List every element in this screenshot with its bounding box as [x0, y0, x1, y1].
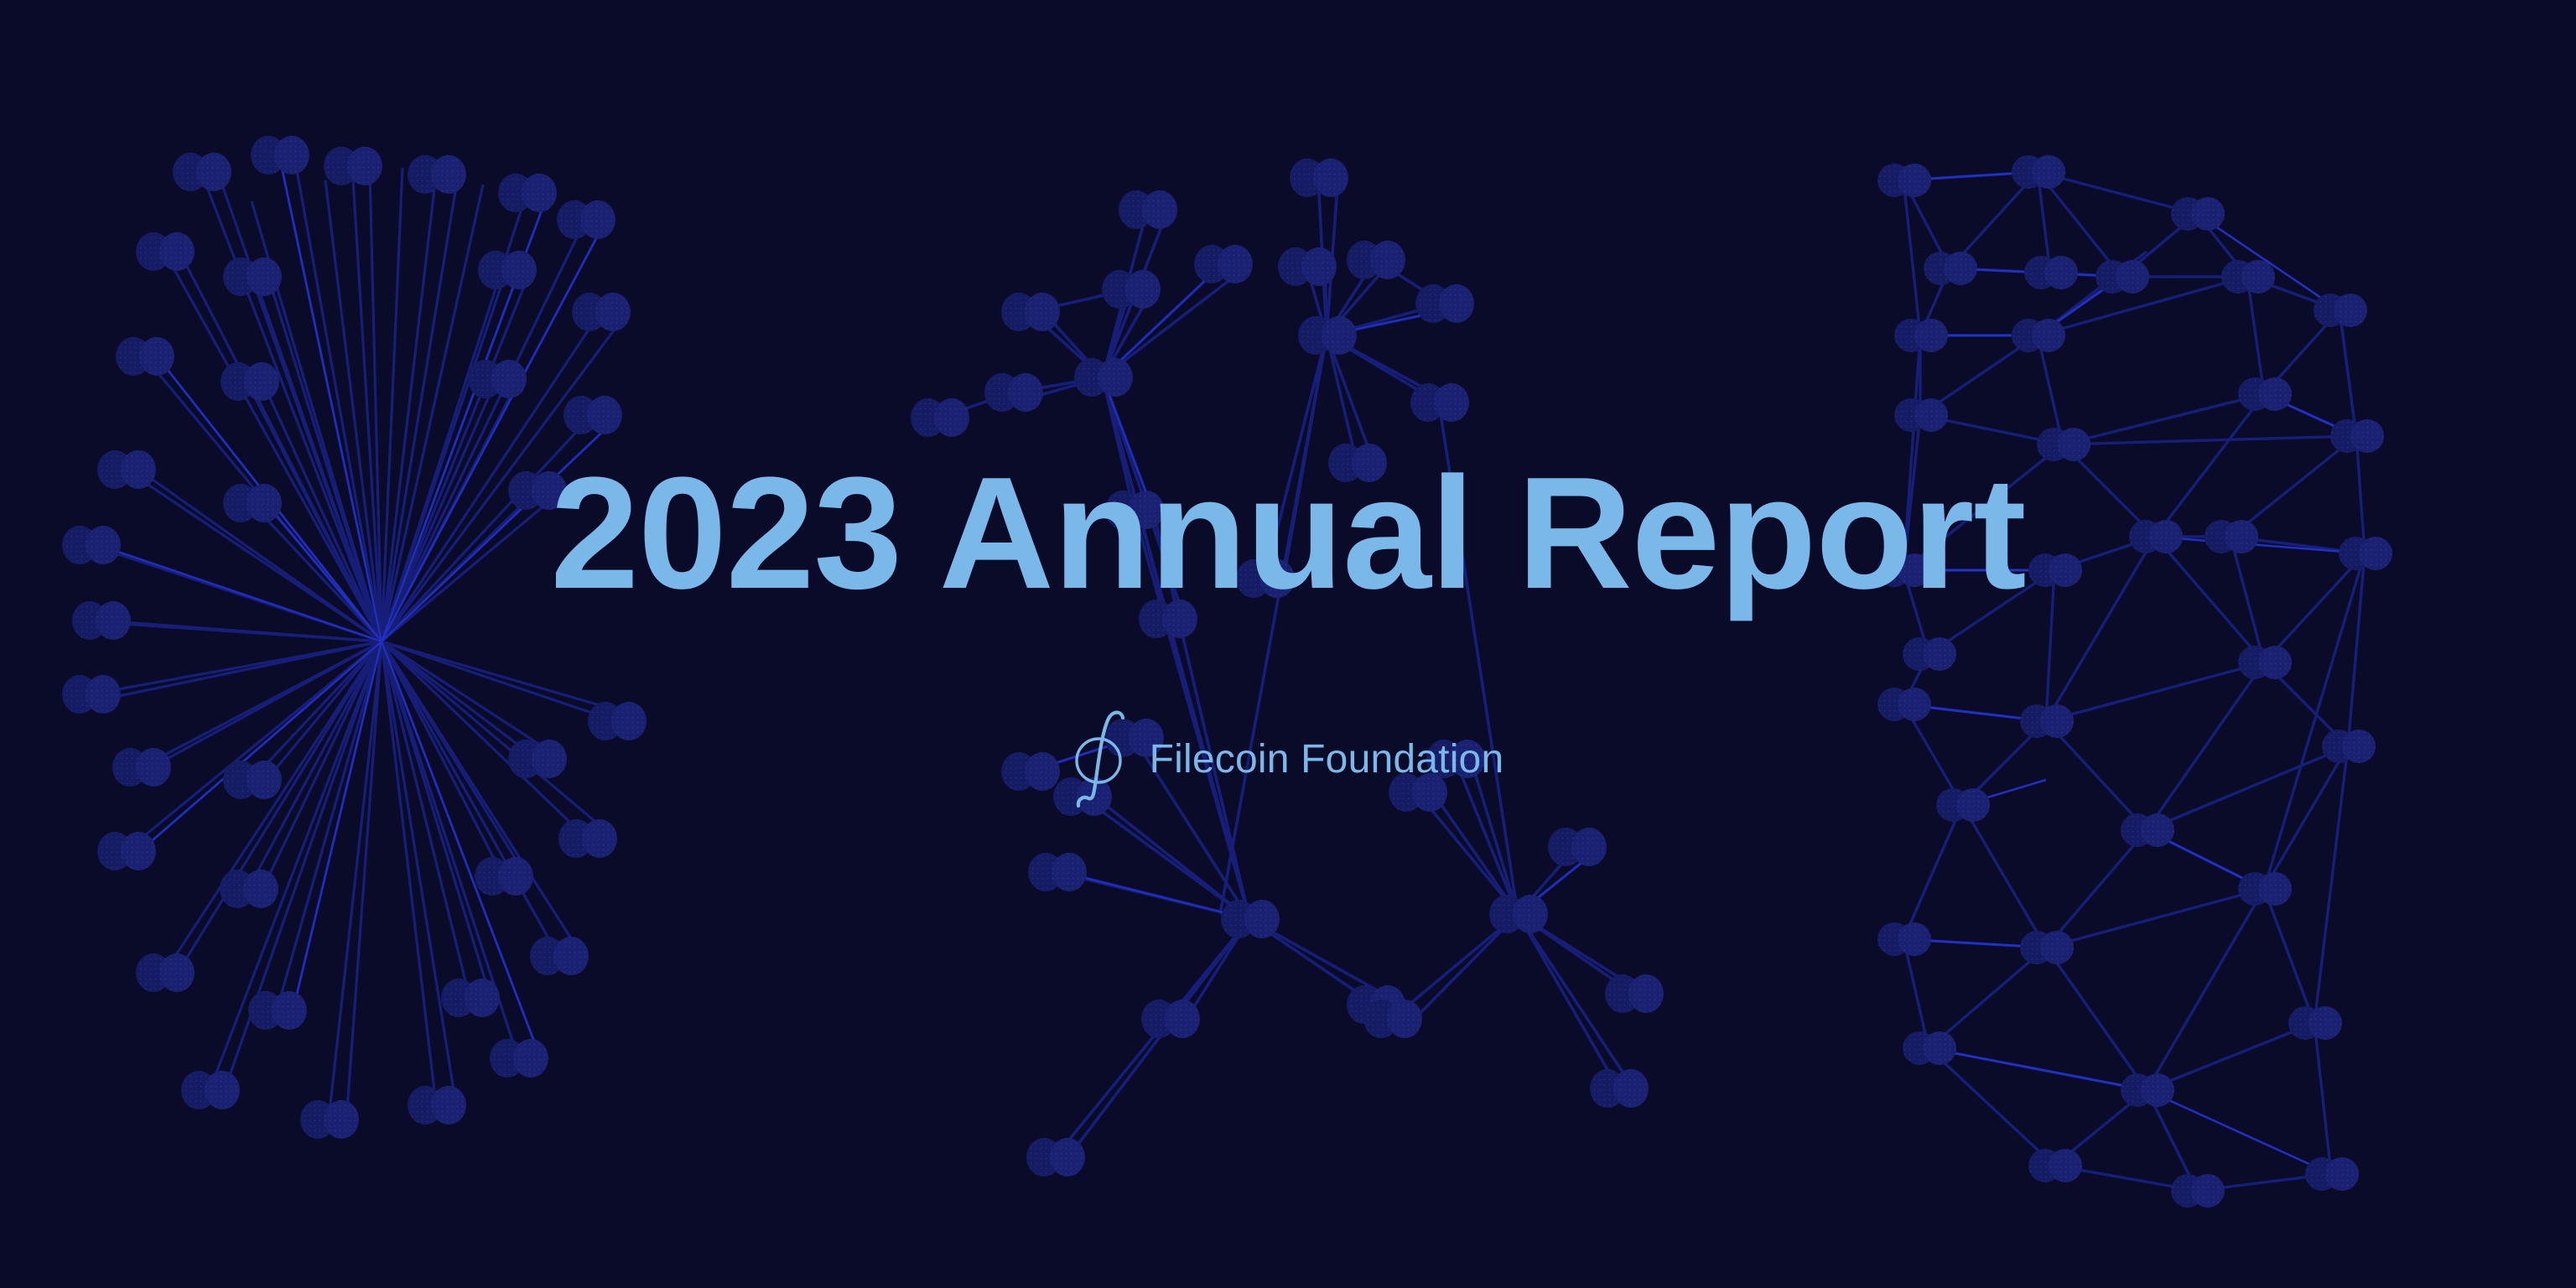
report-cover: 2023 Annual Report Filecoin Foundation — [0, 0, 2576, 1288]
background-network-artwork — [0, 0, 2576, 1288]
